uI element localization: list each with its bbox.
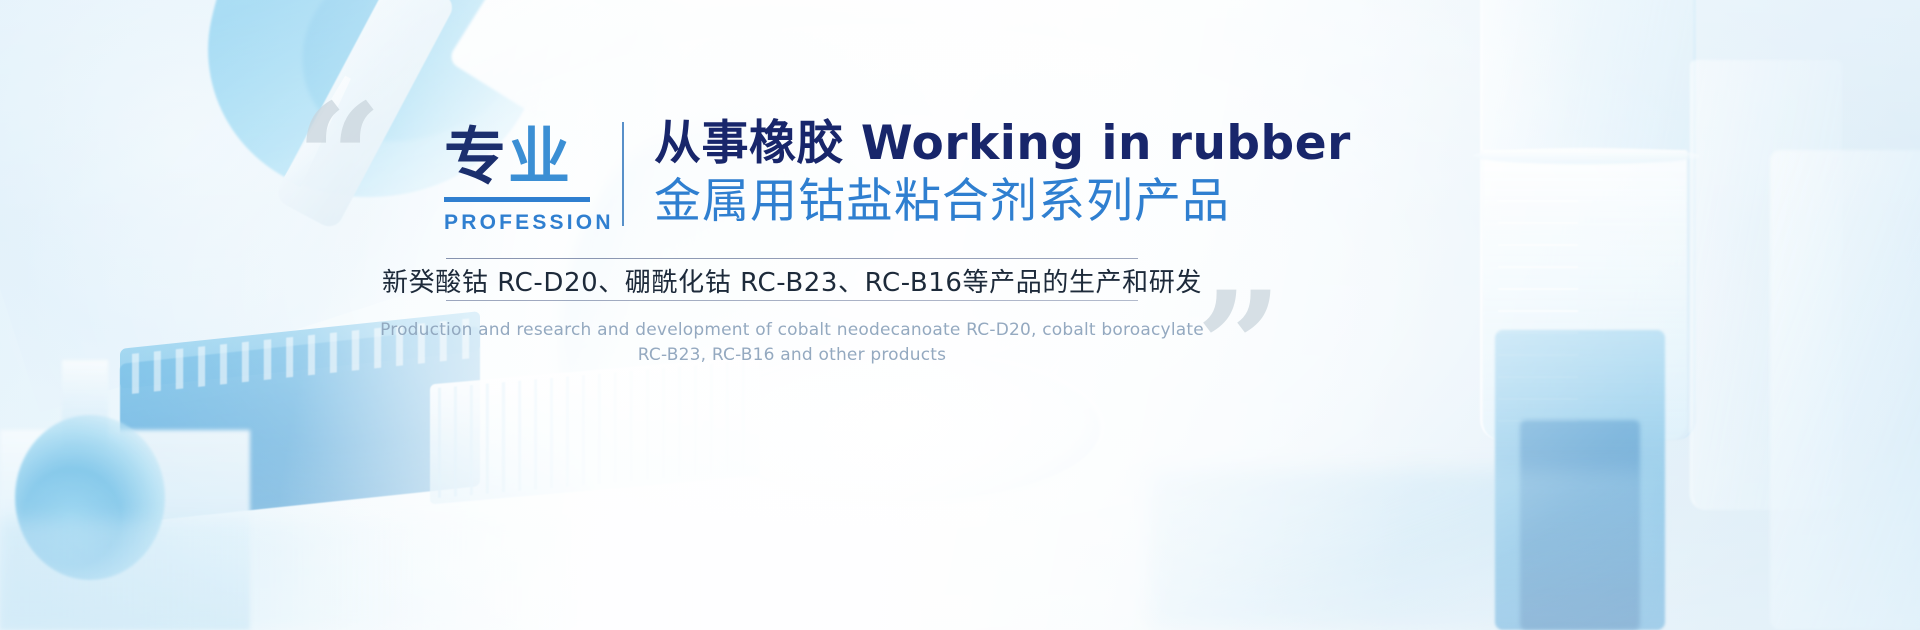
profession-badge-en: PROFESSION (444, 211, 596, 235)
subtitle-rule-bottom (446, 300, 1138, 301)
banner-content: 专业 PROFESSION 从事橡胶 Working in rubber 金属用… (0, 0, 1920, 630)
profession-badge-underline (444, 197, 590, 202)
profession-badge: 专业 PROFESSION (444, 118, 596, 235)
english-caption-line-1: Production and research and development … (0, 318, 1584, 343)
headline-titles: 从事橡胶 Working in rubber 金属用钴盐粘合剂系列产品 (654, 118, 1351, 229)
headline-row: 专业 PROFESSION 从事橡胶 Working in rubber 金属用… (444, 118, 1351, 235)
promo-banner: “ ” 专业 PROFESSION 从事橡胶 Working in rubber… (0, 0, 1920, 630)
headline-line-1: 从事橡胶 Working in rubber (654, 118, 1351, 171)
english-caption-line-2: RC-B23, RC-B16 and other products (0, 343, 1584, 368)
subtitle-text: 新癸酸钴 RC-D20、硼酰化钴 RC-B23、RC-B16等产品的生产和研发 (0, 262, 1584, 299)
subtitle-rule-top (446, 258, 1138, 259)
headline-divider (622, 122, 624, 226)
profession-badge-cn-second: 业 (508, 120, 572, 193)
headline-line-2: 金属用钴盐粘合剂系列产品 (654, 175, 1351, 230)
profession-badge-cn-first: 专 (444, 120, 508, 193)
profession-badge-cn: 专业 (444, 124, 596, 191)
english-caption: Production and research and development … (0, 318, 1584, 367)
